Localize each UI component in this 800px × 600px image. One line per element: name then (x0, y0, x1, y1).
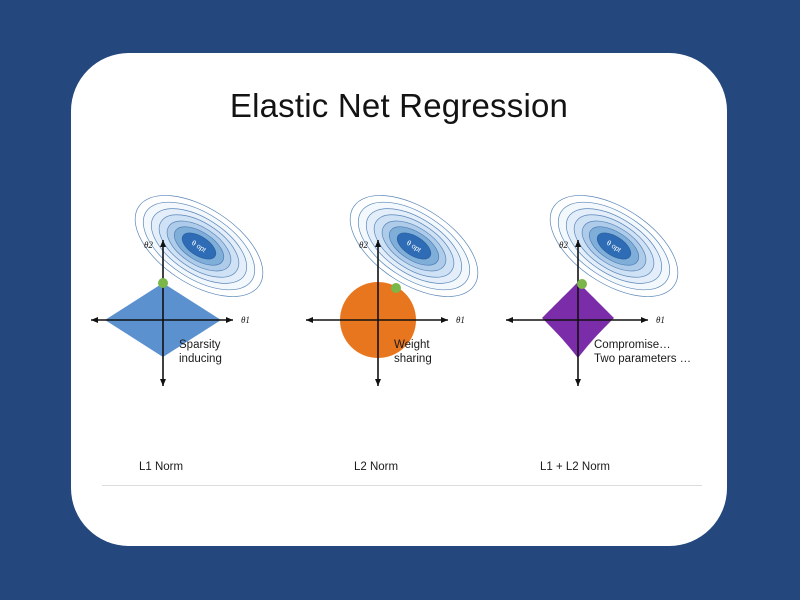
x-axis-arrow-left (91, 317, 98, 323)
panel-l1-l2-caption-line1: Compromise… (594, 338, 691, 352)
panel-l1-caption-line1: Sparsity (179, 338, 222, 352)
panel-l1-norm-label: L1 Norm (139, 461, 183, 473)
page-title: Elastic Net Regression (71, 87, 727, 125)
y-axis-arrow-down (375, 379, 381, 386)
panel-l1-l2-diagram: θ opt θ1 θ2 (496, 178, 716, 488)
panel-l2-norm: θ opt θ1 θ2 (296, 178, 516, 508)
x-axis-label: θ1 (456, 315, 465, 325)
x-axis-arrow (441, 317, 448, 323)
x-axis-label: θ1 (241, 315, 250, 325)
y-axis-label: θ2 (559, 240, 568, 250)
optimum-touch-point (158, 278, 168, 288)
panel-l2-caption-line2: sharing (394, 352, 432, 366)
panel-l1-caption: Sparsity inducing (179, 338, 222, 366)
figure-area: θ opt θ1 (71, 178, 727, 508)
y-axis-arrow-down (160, 379, 166, 386)
figure-divider (102, 485, 702, 486)
optimum-touch-point (577, 279, 587, 289)
y-axis-label: θ2 (144, 240, 153, 250)
contour-ellipses: θ opt (118, 178, 280, 317)
panel-l1-l2-norm-label: L1 + L2 Norm (540, 461, 610, 473)
panel-l1-l2-caption-line2: Two parameters … (594, 352, 691, 366)
x-axis-label: θ1 (656, 315, 665, 325)
panel-l1-l2-caption: Compromise… Two parameters … (594, 338, 691, 366)
x-axis-arrow-left (506, 317, 513, 323)
x-axis-arrow (226, 317, 233, 323)
panel-l1-diagram: θ opt θ1 (81, 178, 301, 488)
panel-l1-norm: θ opt θ1 (81, 178, 301, 508)
panel-l1-caption-line2: inducing (179, 352, 222, 366)
contour-ellipses: θ opt (533, 178, 695, 317)
x-axis-arrow-left (306, 317, 313, 323)
slide-card: Elastic Net Regression (71, 53, 727, 546)
x-axis-arrow (641, 317, 648, 323)
panel-l2-norm-label: L2 Norm (354, 461, 398, 473)
y-axis-arrow-down (575, 379, 581, 386)
panel-l1-l2-norm: θ opt θ1 θ2 (496, 178, 716, 508)
y-axis-label: θ2 (359, 240, 368, 250)
panel-l2-diagram: θ opt θ1 θ2 (296, 178, 516, 488)
panel-l2-caption-line1: Weight (394, 338, 432, 352)
panel-l2-caption: Weight sharing (394, 338, 432, 366)
optimum-touch-point (391, 283, 401, 293)
